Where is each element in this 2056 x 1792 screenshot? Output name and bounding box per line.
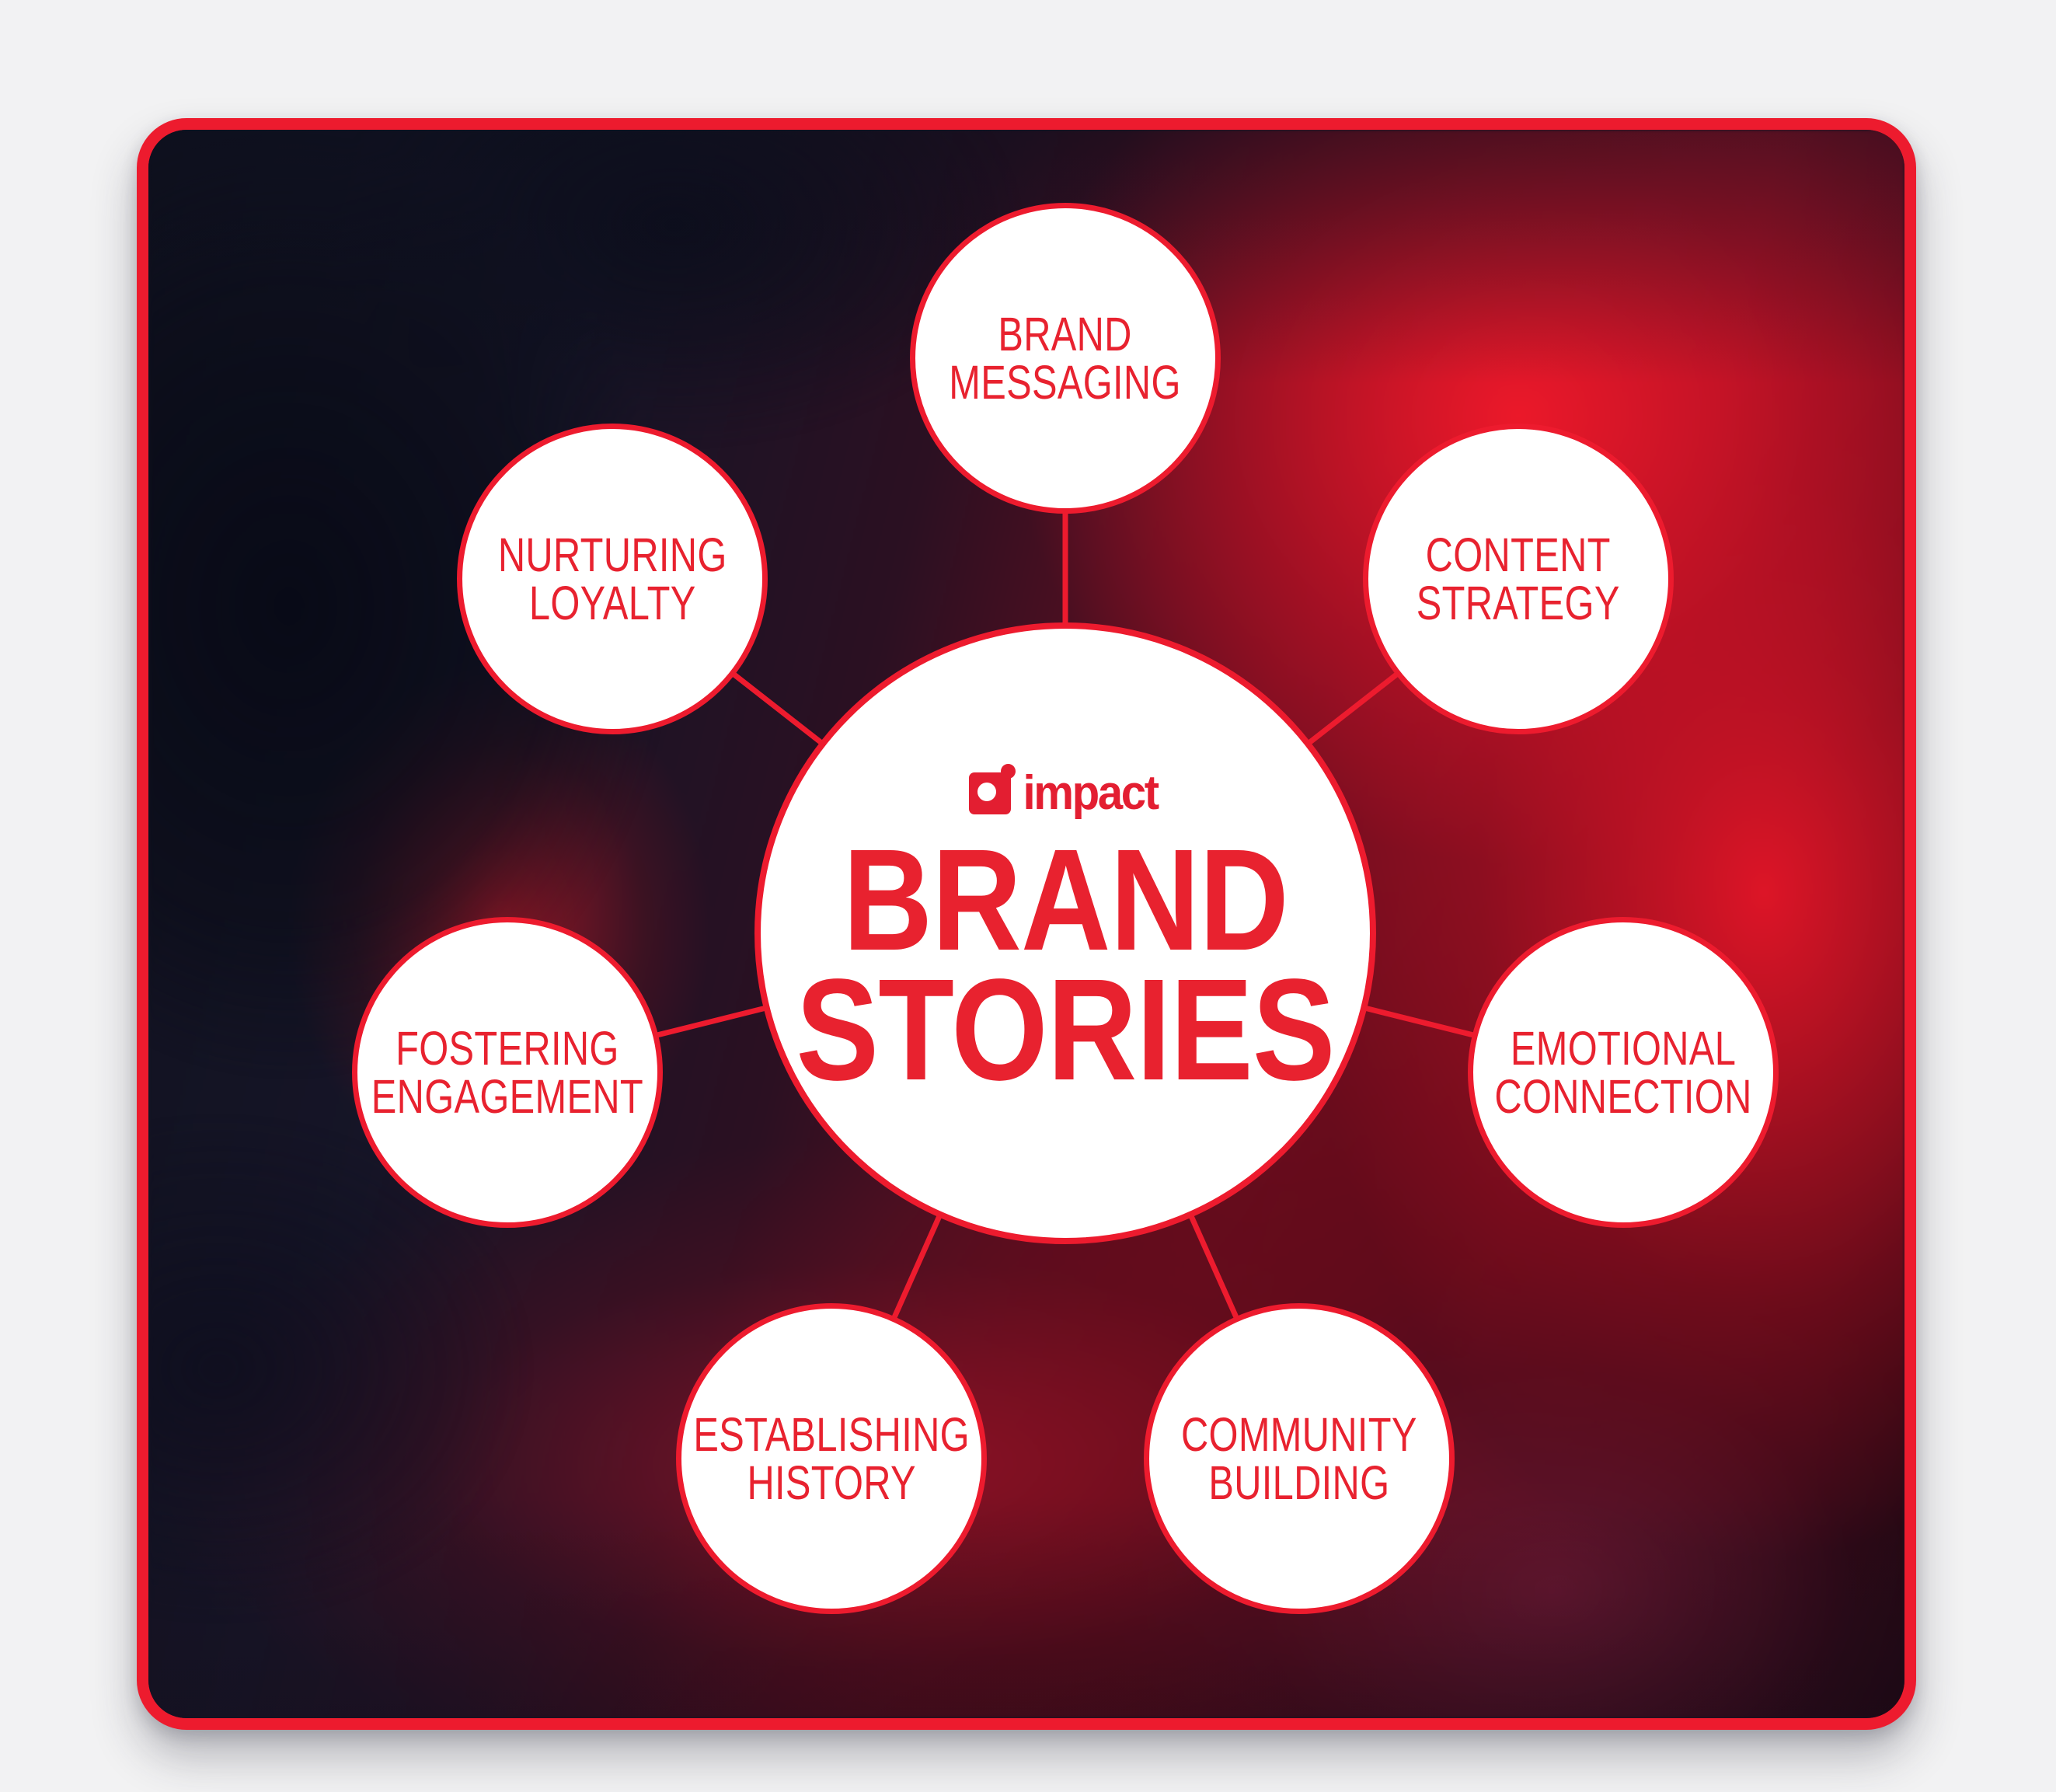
node-label-line-1: FOSTERING <box>371 1024 643 1072</box>
spoke-line-nurturing-loyalty <box>734 674 821 743</box>
node-establishing-history[interactable]: ESTABLISHINGHISTORY <box>676 1303 987 1614</box>
node-label-line-1: NURTURING <box>497 531 727 579</box>
node-community-building[interactable]: COMMUNITYBUILDING <box>1144 1303 1455 1614</box>
node-nurturing-loyalty[interactable]: NURTURINGLOYALTY <box>457 424 768 734</box>
node-label-line-2: MESSAGING <box>950 358 1181 406</box>
impact-wordmark: impact <box>1023 772 1157 815</box>
node-label-emotional-connection: EMOTIONALCONNECTION <box>1494 1024 1751 1121</box>
node-label-line-1: COMMUNITY <box>1181 1410 1417 1459</box>
node-label-line-1: BRAND <box>950 310 1181 358</box>
node-label-establishing-history: ESTABLISHINGHISTORY <box>693 1410 969 1507</box>
node-fostering-engagement[interactable]: FOSTERINGENGAGEMENT <box>352 917 663 1228</box>
node-label-line-1: EMOTIONAL <box>1494 1024 1751 1072</box>
node-label-fostering-engagement: FOSTERINGENGAGEMENT <box>371 1024 643 1121</box>
node-label-content-strategy: CONTENTSTRATEGY <box>1417 531 1620 627</box>
node-label-line-2: LOYALTY <box>497 579 727 627</box>
spoke-line-community-building <box>1191 1216 1237 1319</box>
node-content-strategy[interactable]: CONTENTSTRATEGY <box>1363 424 1674 734</box>
node-brand-messaging[interactable]: BRANDMESSAGING <box>910 203 1221 514</box>
node-label-line-1: CONTENT <box>1417 531 1620 579</box>
spoke-line-content-strategy <box>1309 674 1397 743</box>
spoke-line-establishing-history <box>894 1216 940 1319</box>
spoke-line-fostering-engagement <box>657 1008 765 1035</box>
node-label-community-building: COMMUNITYBUILDING <box>1181 1410 1417 1507</box>
node-label-line-2: HISTORY <box>693 1459 969 1507</box>
node-label-brand-messaging: BRANDMESSAGING <box>950 310 1181 406</box>
impact-logo: impact <box>969 772 1162 815</box>
node-emotional-connection[interactable]: EMOTIONALCONNECTION <box>1468 917 1779 1228</box>
spoke-line-emotional-connection <box>1365 1008 1474 1035</box>
hub-node-brand-stories[interactable]: impactBRANDSTORIES <box>754 622 1376 1244</box>
node-label-line-1: ESTABLISHING <box>693 1410 969 1459</box>
hub-title-line-1: BRAND <box>842 835 1288 965</box>
hub-title-line-2: STORIES <box>796 965 1334 1095</box>
infographic-card: BRANDMESSAGINGCONTENTSTRATEGYEMOTIONALCO… <box>137 118 1916 1730</box>
node-label-line-2: STRATEGY <box>1417 579 1620 627</box>
node-label-line-2: BUILDING <box>1181 1459 1417 1507</box>
node-label-line-2: ENGAGEMENT <box>371 1072 643 1121</box>
node-label-nurturing-loyalty: NURTURINGLOYALTY <box>497 531 727 627</box>
node-label-line-2: CONNECTION <box>1494 1072 1751 1121</box>
impact-logo-mark-icon <box>969 772 1011 814</box>
